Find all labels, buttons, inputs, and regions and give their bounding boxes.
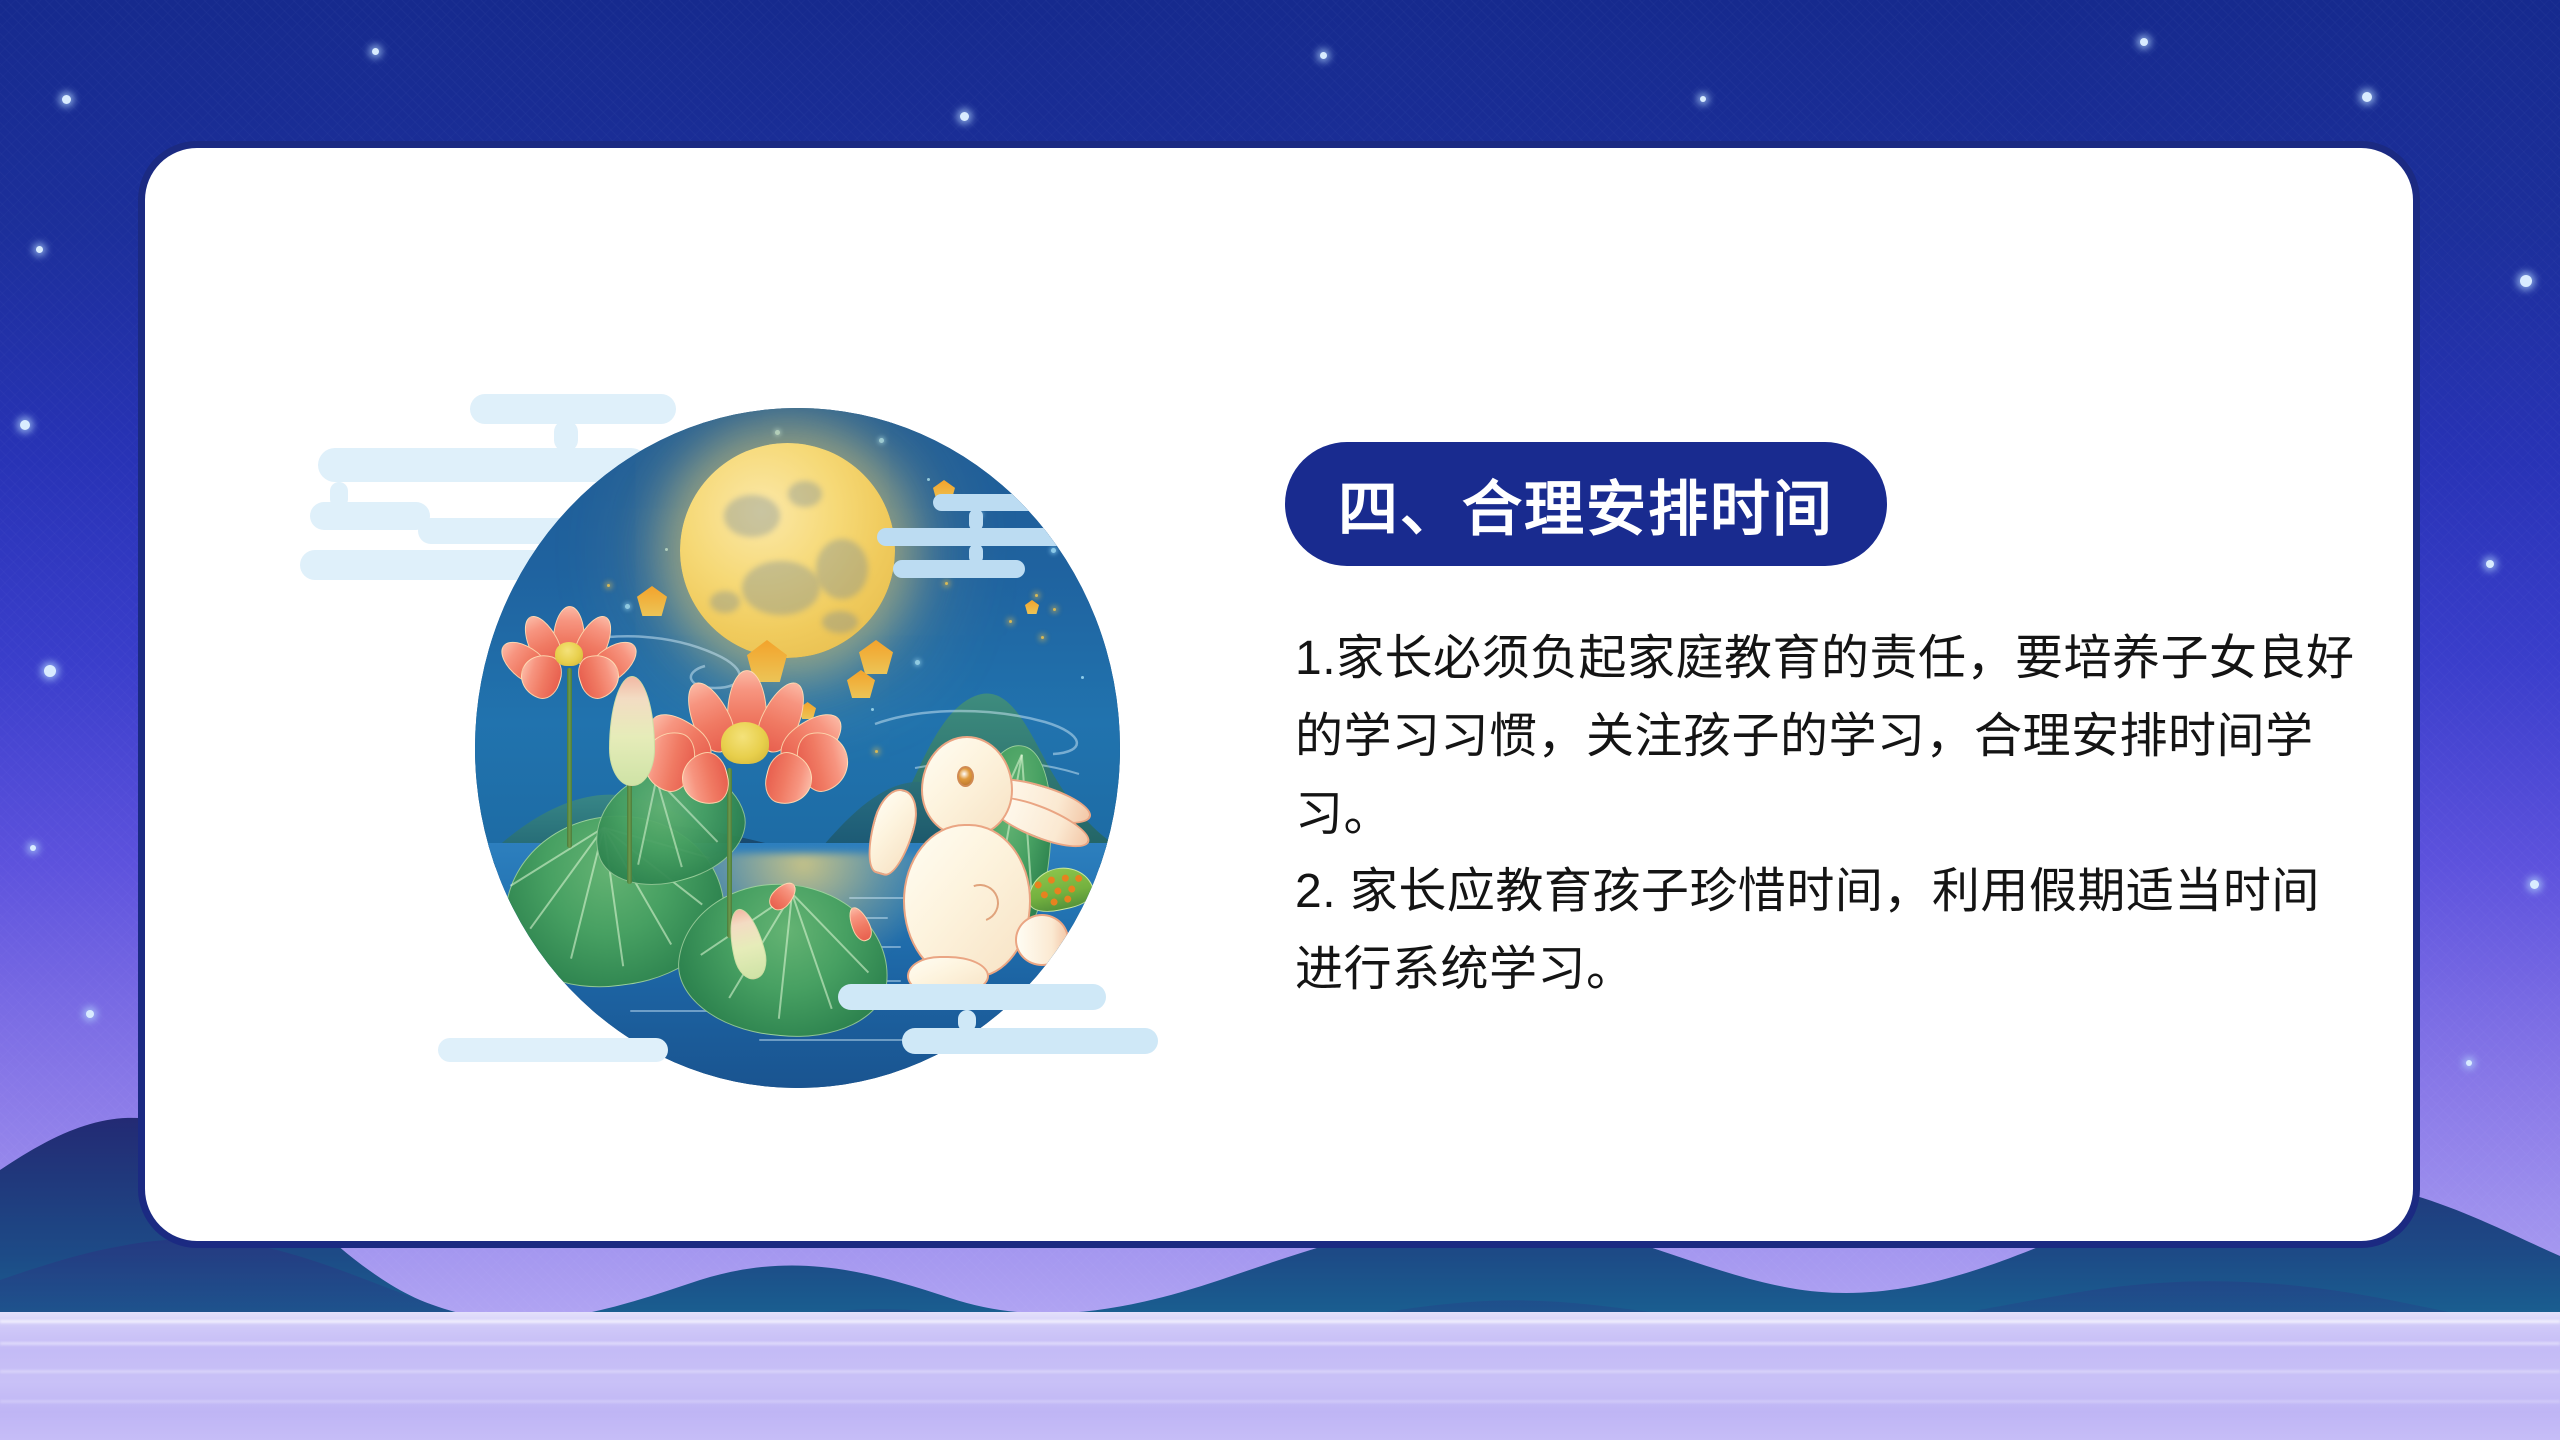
body-paragraph-2: 2. 家长应教育孩子珍惜时间，利用假期适当时间进行系统学习。 (1295, 853, 2355, 1009)
cloud-decoration-scene (871, 494, 1120, 586)
cloud-decoration-bottom-right (838, 984, 1168, 1074)
mid-autumn-illustration (330, 390, 1170, 1130)
slide-root: 四、合理安排时间 1.家长必须负起家庭教育的责任，要培养子女良好的学习习惯，关注… (0, 0, 2560, 1440)
lotus-flower (645, 670, 845, 810)
section-title-text: 四、合理安排时间 (1338, 461, 1834, 548)
body-paragraph-1: 1.家长必须负起家庭教育的责任，要培养子女良好的学习习惯，关注孩子的学习，合理安… (1295, 620, 2355, 853)
jade-rabbit-icon (875, 728, 1105, 1028)
section-title-badge: 四、合理安排时间 (1285, 442, 1887, 566)
lotus-flower (505, 606, 635, 702)
body-text-block: 1.家长必须负起家庭教育的责任，要培养子女良好的学习习惯，关注孩子的学习，合理安… (1295, 620, 2355, 1009)
cloud-decoration-bottom-left (438, 1038, 738, 1098)
